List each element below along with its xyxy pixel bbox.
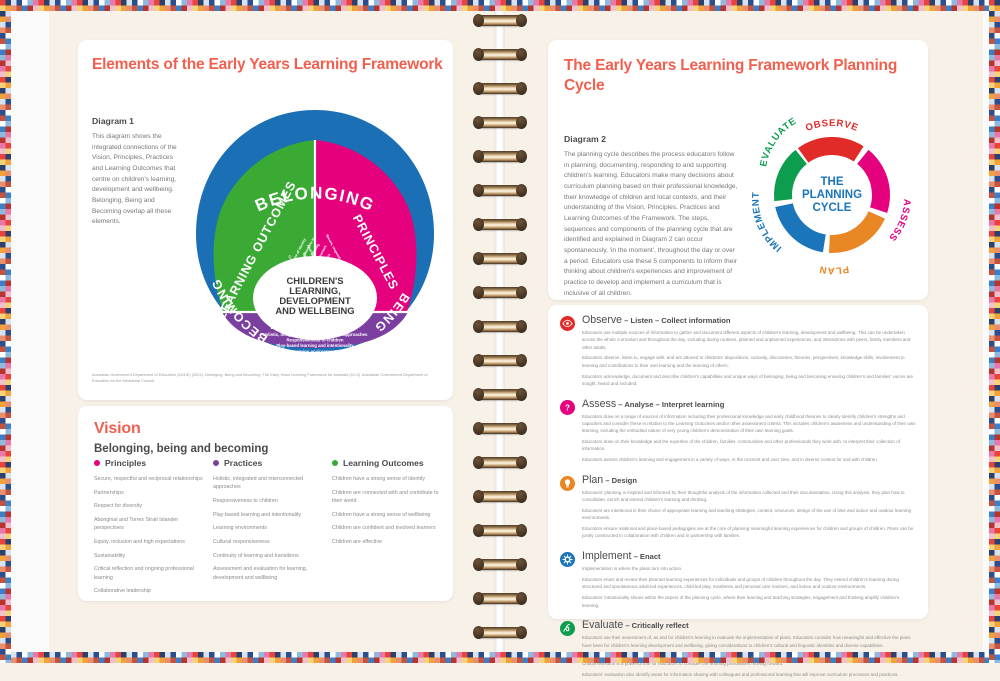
vision-title: Vision [78, 406, 453, 438]
spiral-binding [463, 0, 538, 663]
step-paragraph: Educators enact and review their planned… [582, 576, 916, 591]
question-icon: ? [562, 402, 573, 413]
diagram1-label: Diagram 1 [92, 116, 184, 126]
step-paragraph: Educators assess children's learning and… [582, 456, 916, 463]
vision-list-item: Sustainability [94, 552, 204, 560]
step-body: Assess – Analyse – Interpret learningEdu… [582, 399, 916, 467]
binding-ring [475, 15, 525, 26]
vision-column-heading: Principles [94, 458, 204, 468]
bullet-dot-icon [213, 460, 219, 466]
vision-list-item: Assessment and evaluation for learning, … [213, 565, 323, 581]
binding-ring [475, 593, 525, 604]
wheel-label-assess: ASSESS [886, 199, 912, 244]
triangle-item: Cultural responsiveness [290, 354, 341, 359]
vision-list-item: Aboriginal and Torres Strait Islander pe… [94, 516, 204, 532]
binding-ring [475, 117, 525, 128]
elements-card-title: Elements of the Early Years Learning Fra… [78, 40, 453, 74]
step-keyword: Implement [582, 550, 631, 562]
vision-list-item: Continuity of learning and transitions [213, 552, 323, 560]
binding-ring [475, 49, 525, 60]
binding-ring [475, 185, 525, 196]
wheel-label-implement: IMPLEMENT [750, 191, 783, 254]
reflect-icon [562, 623, 573, 634]
step-subtitle: – Analyse – Interpret learning [616, 400, 724, 409]
step-keyword: Plan [582, 474, 603, 486]
step-keyword: Evaluate [582, 619, 623, 631]
gear-icon [562, 554, 573, 565]
triangle-item: Responsiveness to children [286, 338, 343, 343]
binding-ring [475, 253, 525, 264]
triangle-item: Play-based learning and intentionality [276, 343, 354, 348]
step-paragraph: Educators ensure relational and place-ba… [582, 525, 916, 540]
step-paragraph: Implementation is where the plans turn i… [582, 565, 916, 572]
step-badge-observe [560, 316, 575, 331]
page-left-margin [11, 11, 49, 652]
binding-ring [475, 457, 525, 468]
step-heading: Evaluate – Critically reflect [582, 620, 916, 632]
vision-list-item: Partnerships [94, 489, 204, 497]
step-paragraph: Educators' planning is inspired and info… [582, 489, 916, 504]
triangle-item: Holistic, integrated and interconnected … [263, 332, 368, 337]
wheel-segment-assess[interactable] [857, 150, 890, 213]
step-badge-plan [560, 476, 575, 491]
step-paragraph: Educators draw on a range of sources of … [582, 413, 916, 435]
vision-columns: PrinciplesSecure, respectful and recipro… [94, 458, 442, 601]
wheel-label-observe: OBSERVE [804, 118, 860, 134]
binding-ring [475, 525, 525, 536]
vision-card: Vision Belonging, being and becoming Pri… [78, 406, 453, 601]
step-subtitle: – Enact [631, 552, 660, 561]
vision-list-item: Respect for diversity [94, 502, 204, 510]
binding-ring [475, 627, 525, 638]
eylf-triangle-diagram: BELONGING BEING BECOMING LEARNING OUTCOM… [186, 102, 444, 370]
step-paragraph: Educators are intentional in their choic… [582, 507, 916, 522]
step-subtitle: – Critically reflect [623, 621, 688, 630]
vision-list-item: Play-based learning and intentionality [213, 511, 323, 519]
vision-list-item: Children are confident and involved lear… [332, 524, 442, 532]
step-body: Evaluate – Critically reflectEducators u… [582, 620, 916, 681]
triangle-item: Learning environments [291, 349, 339, 354]
svg-text:AND WELLBEING: AND WELLBEING [275, 305, 354, 316]
step-badge-implement [560, 552, 575, 567]
step-paragraph: Educators use their assessment of, as an… [582, 634, 916, 649]
binding-ring [475, 287, 525, 298]
decorative-border-right [989, 0, 1000, 663]
diagram1-attribution: Australian Government Department of Educ… [92, 372, 440, 384]
vision-subtitle: Belonging, being and becoming [78, 438, 453, 455]
step-paragraph: Educators acknowledge, document and desc… [582, 373, 916, 388]
vision-list-item: Children have a strong sense of wellbein… [332, 511, 442, 519]
diagram2-intro: The planning cycle describes the process… [564, 150, 740, 299]
triangle-item: Assessment and evaluation for learning, … [245, 366, 385, 370]
step-heading: Plan – Design [582, 475, 916, 487]
elements-card: Elements of the Early Years Learning Fra… [78, 40, 453, 400]
binding-ring [475, 219, 525, 230]
binding-ring [475, 83, 525, 94]
step-paragraph: Educators use multiple sources of inform… [582, 329, 916, 351]
vision-column: PrinciplesSecure, respectful and recipro… [94, 458, 204, 601]
diagram1-intro: This diagram shows the integrated connec… [92, 132, 184, 228]
binding-ring [475, 389, 525, 400]
step-badge-evaluate [560, 621, 575, 636]
step-heading: Observe – Listen – Collect information [582, 315, 916, 327]
step-paragraph: Educators' evaluation also identify area… [582, 671, 916, 678]
wheel-center-line3: CYCLE [813, 202, 852, 214]
planning-step: ?Assess – Analyse – Interpret learningEd… [560, 399, 916, 467]
planning-step: Observe – Listen – Collect informationEd… [560, 315, 916, 391]
binding-ring [475, 355, 525, 366]
wheel-center-line1: THE [821, 176, 844, 188]
step-subtitle: – Listen – Collect information [622, 316, 730, 325]
step-subtitle: – Design [603, 476, 637, 485]
step-paragraph: Educators' intentionality shines within … [582, 594, 916, 609]
vision-column-label: Principles [105, 458, 146, 468]
vision-column-heading: Learning Outcomes [332, 458, 442, 468]
vision-list-item: Collaborative leadership [94, 587, 204, 595]
vision-column-label: Practices [224, 458, 262, 468]
vision-list-item: Equity, inclusion and high expectations [94, 538, 204, 546]
segment-title-practices: PRACTICES [270, 316, 360, 332]
binding-ring [475, 559, 525, 570]
vision-list-item: Secure, respectful and reciprocal relati… [94, 475, 204, 483]
planning-cycle-card: The Early Years Learning Framework Plann… [548, 40, 928, 300]
svg-text:PRACTICES: PRACTICES [270, 316, 360, 332]
binding-ring [475, 491, 525, 502]
vision-column-label: Learning Outcomes [343, 458, 424, 468]
planning-cycle-title: The Early Years Learning Framework Plann… [548, 40, 928, 97]
wheel-label-plan: PLAN [818, 263, 850, 276]
vision-list-item: Children have a strong sense of identity [332, 475, 442, 483]
binding-ring [475, 423, 525, 434]
planning-steps-card: Observe – Listen – Collect informationEd… [548, 305, 928, 619]
svg-text:?: ? [565, 403, 570, 412]
binding-ring [475, 321, 525, 332]
vision-list-item: Children are effective [332, 538, 442, 546]
step-body: Plan – DesignEducators' planning is insp… [582, 475, 916, 543]
step-keyword: Assess [582, 398, 616, 410]
planning-step: Evaluate – Critically reflectEducators u… [560, 620, 916, 681]
vision-list-item: Critical reflection and ongoing professi… [94, 565, 204, 581]
vision-column: PracticesHolistic, integrated and interc… [213, 458, 323, 601]
planning-step: Implement – EnactImplementation is where… [560, 551, 916, 612]
wheel-center-text: THE PLANNING CYCLE [802, 176, 862, 214]
step-badge-assess: ? [560, 400, 575, 415]
bullet-dot-icon [94, 460, 100, 466]
lightbulb-icon [562, 478, 573, 489]
planning-steps-list: Observe – Listen – Collect informationEd… [548, 305, 928, 681]
wheel-center-line2: PLANNING [802, 189, 862, 201]
triangle-item: Continuity of learning and transitions [277, 360, 354, 365]
step-heading: Implement – Enact [582, 551, 916, 563]
step-heading: Assess – Analyse – Interpret learning [582, 399, 916, 411]
step-keyword: Observe [582, 314, 622, 326]
vision-list-item: Children are connected with and contribu… [332, 489, 442, 505]
step-paragraph: Educators draw on their knowledge and th… [582, 438, 916, 453]
vision-column-heading: Practices [213, 458, 323, 468]
step-body: Observe – Listen – Collect informationEd… [582, 315, 916, 391]
diagram1-sidebar: Diagram 1 This diagram shows the integra… [92, 116, 184, 228]
vision-list-item: Holistic, integrated and interconnected … [213, 475, 323, 491]
vision-list-item: Cultural responsiveness [213, 538, 323, 546]
step-body: Implement – EnactImplementation is where… [582, 551, 916, 612]
vision-list-item: Responsiveness to children [213, 497, 323, 505]
diagram2-label: Diagram 2 [564, 134, 740, 144]
vision-list-item: Learning environments [213, 524, 323, 532]
binding-ring [475, 151, 525, 162]
triangle-center-text: CHILDREN'S LEARNING, DEVELOPMENT AND WEL… [275, 275, 354, 316]
page-right-margin [983, 11, 989, 652]
planning-cycle-wheel: THE PLANNING CYCLE OBSERVEASSESSPLANIMPL… [744, 100, 920, 280]
eye-icon [562, 318, 573, 329]
step-paragraph: Educators observe, listen to, engage wit… [582, 354, 916, 369]
bullet-dot-icon [332, 460, 338, 466]
wheel-segment-observe[interactable] [798, 137, 864, 163]
wheel-segment-plan[interactable] [829, 211, 885, 253]
step-paragraph: Evaluation is a time of critical reflect… [582, 653, 916, 668]
planning-step: Plan – DesignEducators' planning is insp… [560, 475, 916, 543]
decorative-border-left [0, 0, 11, 663]
vision-column: Learning OutcomesChildren have a strong … [332, 458, 442, 601]
